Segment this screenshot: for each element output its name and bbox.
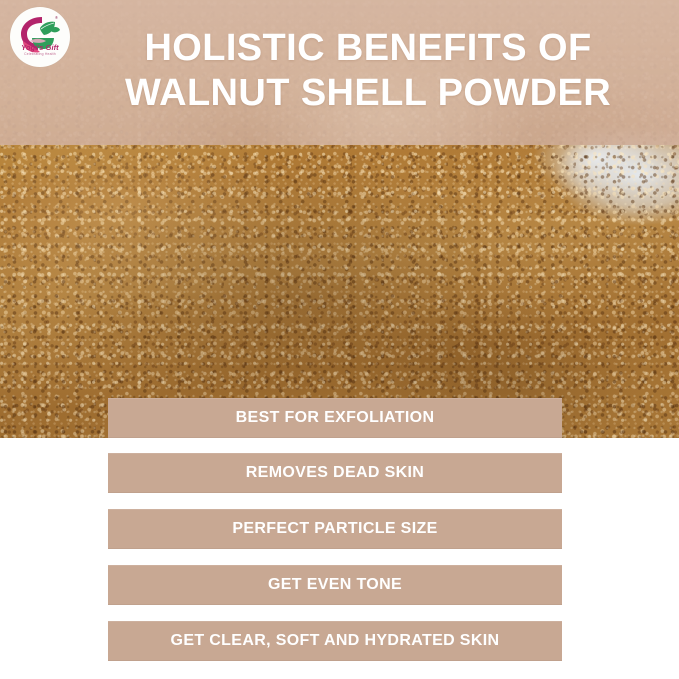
benefits-list: BEST FOR EXFOLIATION REMOVES DEAD SKIN P… — [0, 0, 679, 679]
benefit-bar: GET EVEN TONE — [108, 565, 562, 605]
benefit-bar: GET CLEAR, SOFT AND HYDRATED SKIN — [108, 621, 562, 661]
benefit-label: GET EVEN TONE — [108, 565, 562, 605]
benefit-bar: PERFECT PARTICLE SIZE — [108, 509, 562, 549]
benefit-label: GET CLEAR, SOFT AND HYDRATED SKIN — [108, 621, 562, 661]
benefit-bar: BEST FOR EXFOLIATION — [108, 398, 562, 438]
benefit-bar: REMOVES DEAD SKIN — [108, 453, 562, 493]
benefit-label: BEST FOR EXFOLIATION — [108, 398, 562, 438]
product-benefits-infographic: HOLISTIC BENEFITS OF WALNUT SHELL POWDER… — [0, 0, 679, 679]
benefit-label: PERFECT PARTICLE SIZE — [108, 509, 562, 549]
benefit-label: REMOVES DEAD SKIN — [108, 453, 562, 493]
